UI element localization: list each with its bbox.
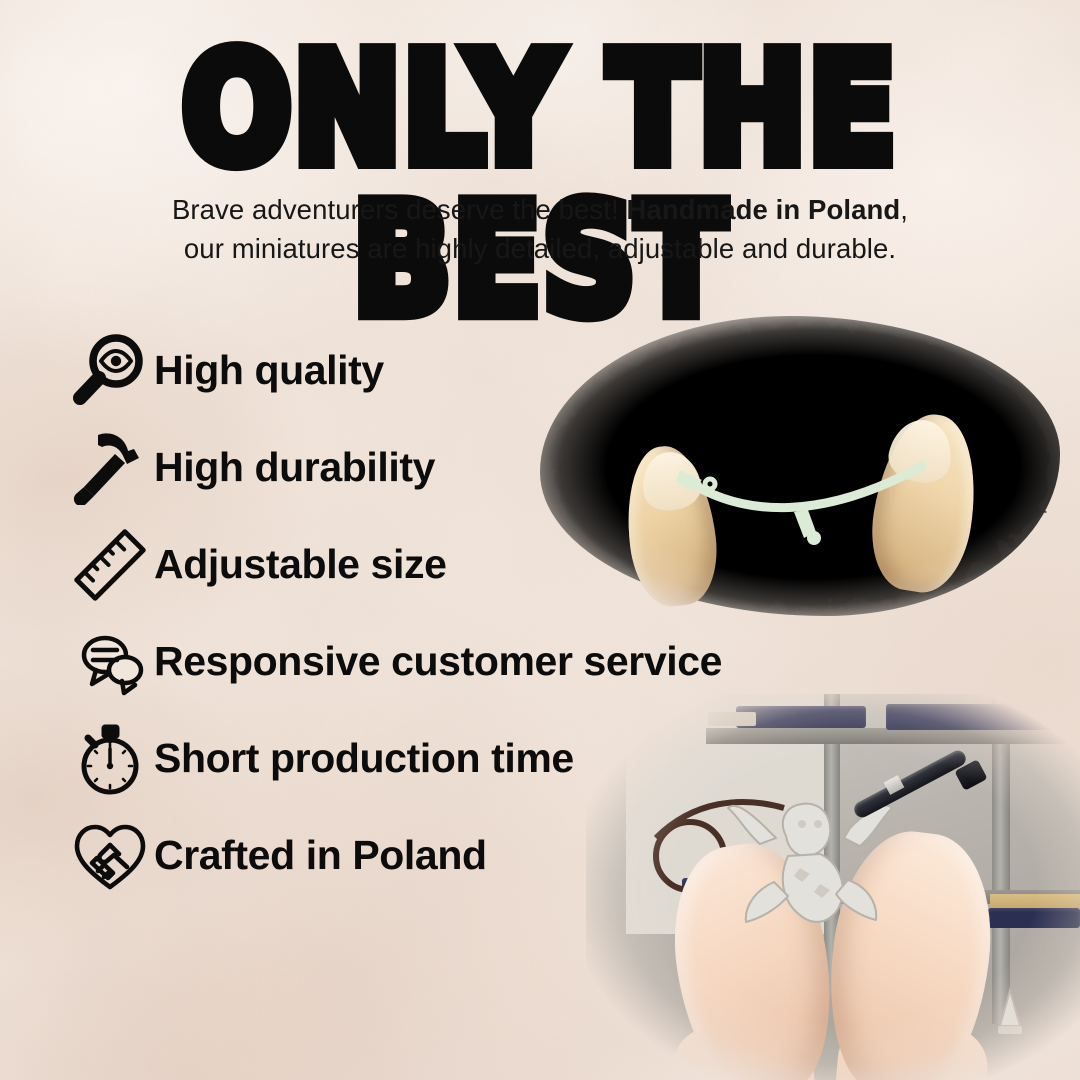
subtitle-line-2: our miniatures are highly detailed, adju… [0,229,1080,268]
page-title-text: ONLY THE BEST [0,34,1080,336]
workshop-crafting-photo [586,694,1080,1080]
flexible-miniature-photo [524,306,1080,628]
speech-bubbles-icon [62,619,158,705]
heart-handshake-icon [62,813,158,899]
subtitle-line-1: Brave adventurers deserve the best! Hand… [0,190,1080,229]
mint-miniature-part [674,456,934,546]
subtitle: Brave adventurers deserve the best! Hand… [0,190,1080,268]
infographic-canvas: ONLY THE BEST Brave adventurers deserve … [0,0,1080,1080]
feature-label: Crafted in Poland [154,832,487,879]
feature-item-crafted-in-poland: Crafted in Poland [0,807,620,904]
feature-label: Responsive customer service [154,638,722,685]
subtitle-tail: , [900,194,908,225]
label-card [708,712,756,726]
stopwatch-icon [62,716,158,802]
shelf-beam-top [706,728,1080,744]
subtitle-lead: Brave adventurers deserve the best! [172,194,627,225]
feature-label: Short production time [154,735,574,782]
magnifier-eye-icon [62,328,158,414]
feature-label: High durability [154,444,435,491]
hammer-icon [62,425,158,511]
tray-mid-right [988,908,1080,928]
feature-item-short-production-time: Short production time [0,710,620,807]
tray-top-right [886,704,1076,730]
subtitle-bold-phrase: Handmade in Poland [627,194,901,225]
feature-label: High quality [154,347,384,394]
feature-label: Adjustable size [154,541,446,588]
small-miniature [990,986,1030,1044]
ruler-icon [62,522,158,608]
